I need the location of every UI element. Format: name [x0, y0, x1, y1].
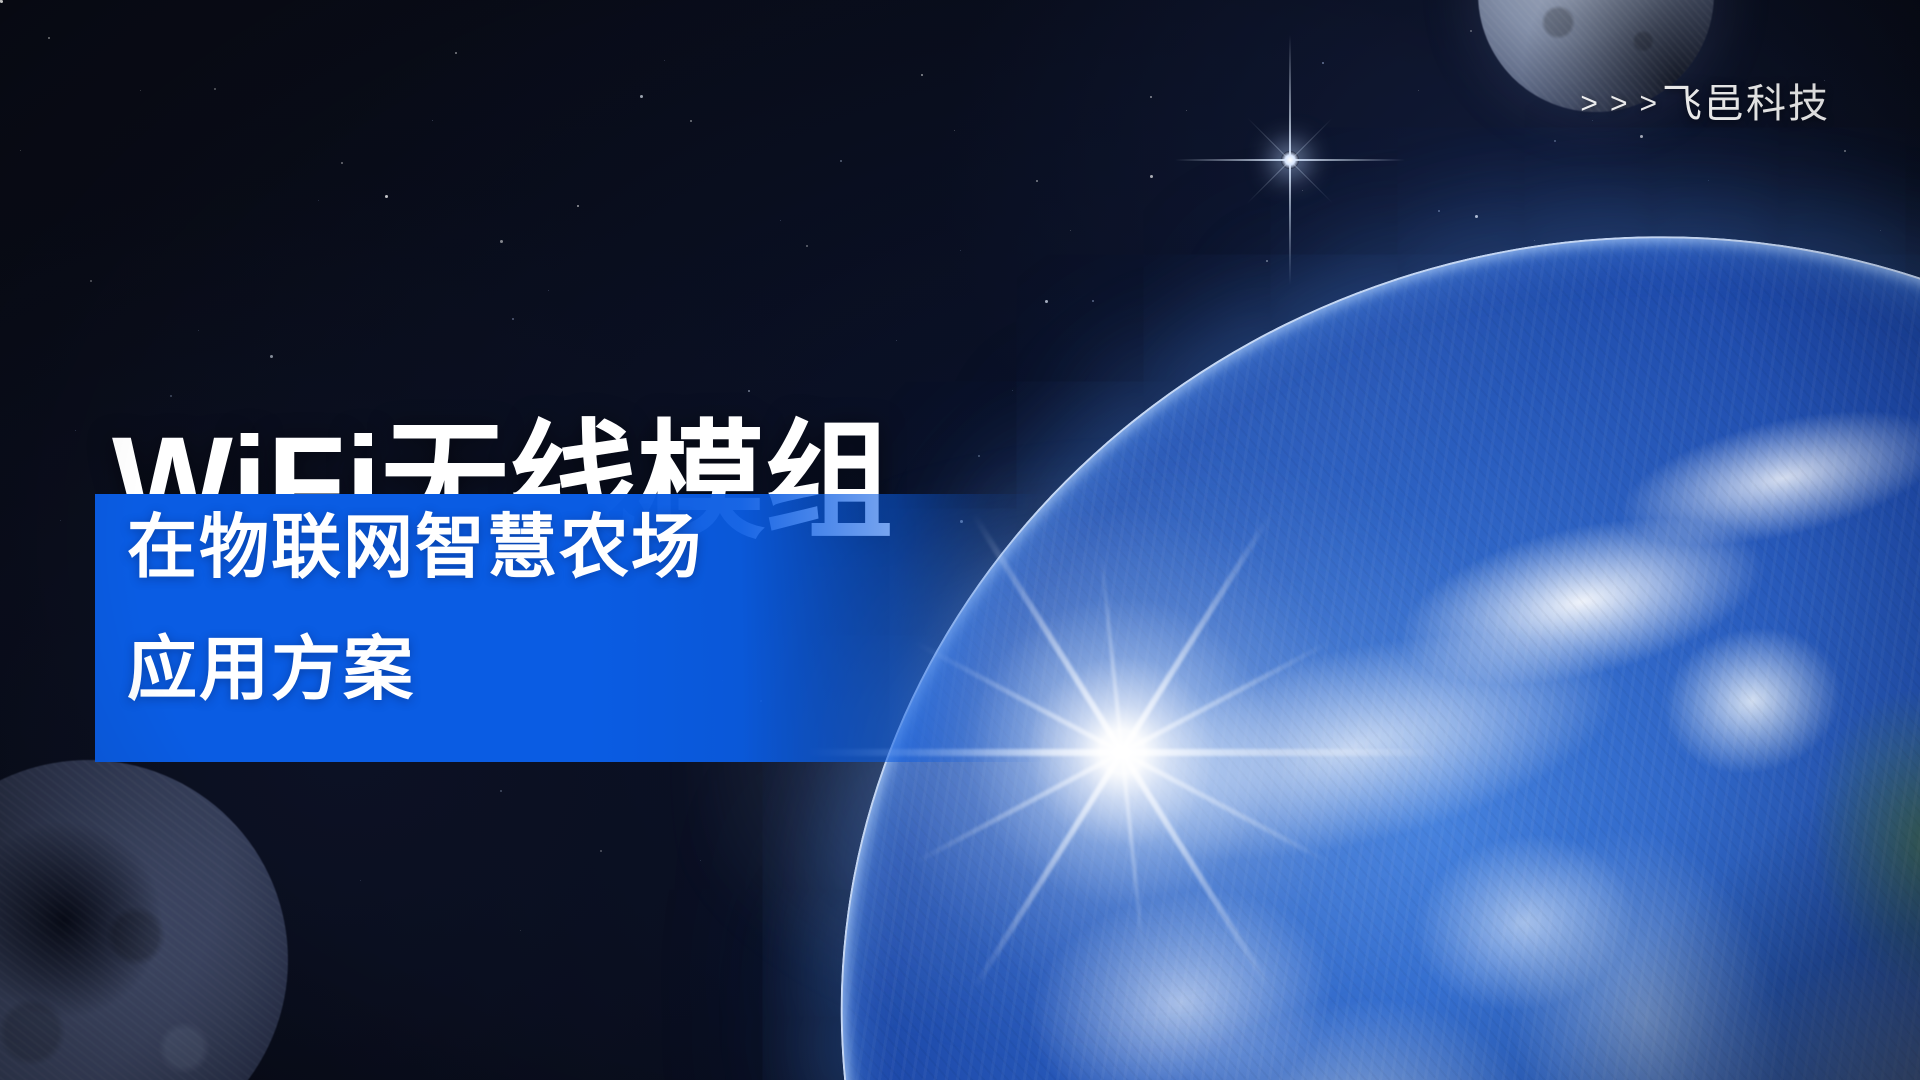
- brand-logo[interactable]: > > > 飞邑科技: [1580, 84, 1830, 124]
- chevron-right-icon-1: >: [1580, 89, 1599, 119]
- star-core: [1281, 151, 1299, 169]
- chevron-right-icon-3: >: [1639, 89, 1658, 119]
- chevron-right-icon-2: >: [1610, 89, 1629, 119]
- subtitle-line-1: 在物联网智慧农场: [127, 512, 703, 582]
- brand-name: 飞邑科技: [1662, 84, 1830, 124]
- subtitle-panel: 在物联网智慧农场 应用方案: [95, 494, 1045, 762]
- slide-canvas: > > > 飞邑科技 WiFi无线模组 在物联网智慧农场 应用方案: [0, 0, 1920, 1080]
- subtitle-line-2: 应用方案: [127, 634, 415, 704]
- star-layer-large: [0, 0, 3, 3]
